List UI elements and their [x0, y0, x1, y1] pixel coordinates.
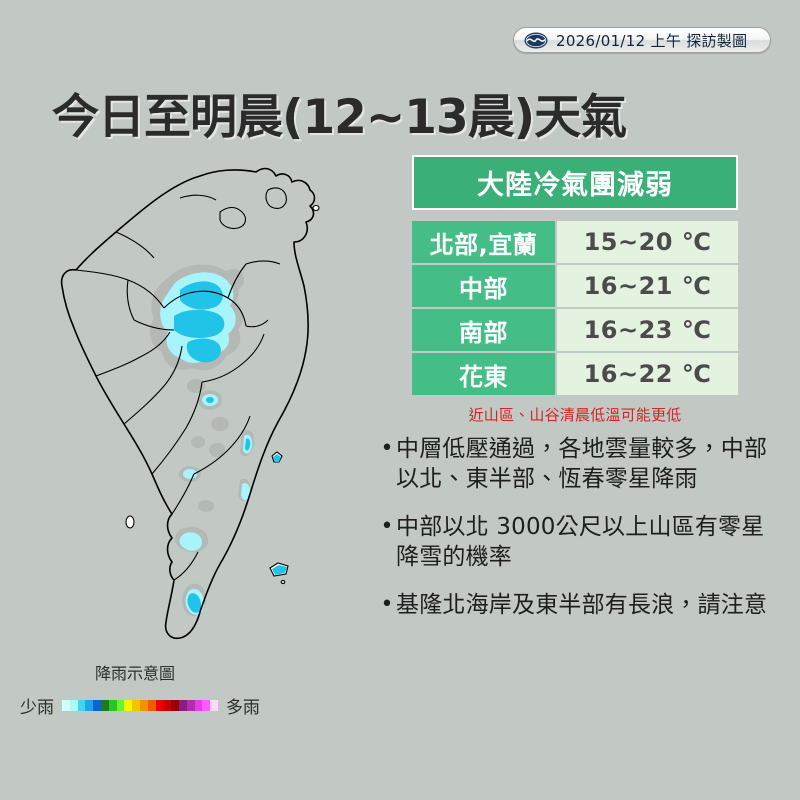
table-row: 北部,宜蘭15~20 ℃	[412, 221, 738, 263]
bullet-text: 中部以北 3000公尺以上山區有零星降雪的機率	[396, 512, 768, 572]
legend-swatch	[148, 700, 156, 711]
legend-swatch	[124, 700, 132, 711]
legend-swatch	[62, 700, 70, 711]
legend-swatch	[163, 700, 171, 711]
legend-label-low: 少雨	[20, 693, 54, 718]
map-svg	[20, 150, 370, 670]
legend-swatch	[101, 700, 109, 711]
page-title: 今日至明晨(12~13晨)天氣	[52, 78, 626, 147]
legend-swatch	[140, 700, 148, 711]
legend-swatch	[202, 700, 210, 711]
list-item: •基隆北海岸及東半部有長浪，請注意	[378, 590, 768, 620]
temperature-value: 15~20 ℃	[555, 221, 738, 263]
list-item: •中層低壓通過，各地雲量較多，中部以北、東半部、恆春零星降雨	[378, 434, 768, 494]
temperature-value: 16~22 ℃	[555, 353, 738, 395]
bullet-text: 基隆北海岸及東半部有長浪，請注意	[396, 590, 767, 620]
offshore-islet-rain	[272, 454, 287, 575]
bullet-dot-icon: •	[378, 434, 396, 494]
region-label: 中部	[412, 265, 555, 307]
legend-swatch	[109, 700, 117, 711]
legend-swatch	[85, 700, 93, 711]
condition-banner: 大陸冷氣團減弱	[412, 155, 738, 210]
temperature-table-body: 北部,宜蘭15~20 ℃中部16~21 ℃南部16~23 ℃花東16~22 ℃	[412, 221, 738, 395]
rainfall-legend: 降雨示意圖 少雨 多雨	[20, 660, 320, 718]
legend-title: 降雨示意圖	[30, 660, 240, 684]
table-row: 花東16~22 ℃	[412, 353, 738, 395]
table-row: 南部16~23 ℃	[412, 309, 738, 351]
legend-swatch	[156, 700, 164, 711]
list-item: •中部以北 3000公尺以上山區有零星降雪的機率	[378, 512, 768, 572]
legend-swatch	[78, 700, 86, 711]
legend-swatch	[171, 700, 179, 711]
low-temp-note: 近山區、山谷清晨低溫可能更低	[412, 404, 738, 425]
region-label: 花東	[412, 353, 555, 395]
date-badge-text: 2026/01/12 上午 探訪製圖	[556, 30, 747, 51]
cwa-wave-logo-icon	[524, 32, 548, 49]
date-badge: 2026/01/12 上午 探訪製圖	[513, 27, 771, 53]
region-label: 北部,宜蘭	[412, 221, 555, 263]
legend-swatch	[210, 700, 218, 711]
temperature-value: 16~23 ℃	[555, 309, 738, 351]
taiwan-rainfall-map	[20, 150, 370, 670]
bullet-text: 中層低壓通過，各地雲量較多，中部以北、東半部、恆春零星降雨	[396, 434, 768, 494]
temperature-value: 16~21 ℃	[555, 265, 738, 307]
table-row: 中部16~21 ℃	[412, 265, 738, 307]
bullet-dot-icon: •	[378, 512, 396, 572]
forecast-bullet-list: •中層低壓通過，各地雲量較多，中部以北、東半部、恆春零星降雨•中部以北 3000…	[378, 434, 768, 638]
legend-row: 少雨 多雨	[20, 693, 320, 718]
legend-swatch	[70, 700, 78, 711]
legend-swatch	[132, 700, 140, 711]
legend-color-bar	[62, 700, 218, 711]
legend-swatch	[195, 700, 203, 711]
legend-swatch	[117, 700, 125, 711]
conditions-panel: 大陸冷氣團減弱 北部,宜蘭15~20 ℃中部16~21 ℃南部16~23 ℃花東…	[412, 155, 738, 425]
legend-swatch	[93, 700, 101, 711]
legend-swatch	[187, 700, 195, 711]
temperature-table: 北部,宜蘭15~20 ℃中部16~21 ℃南部16~23 ℃花東16~22 ℃	[412, 219, 738, 397]
legend-swatch	[179, 700, 187, 711]
legend-label-high: 多雨	[226, 693, 260, 718]
bullet-dot-icon: •	[378, 590, 396, 620]
region-label: 南部	[412, 309, 555, 351]
